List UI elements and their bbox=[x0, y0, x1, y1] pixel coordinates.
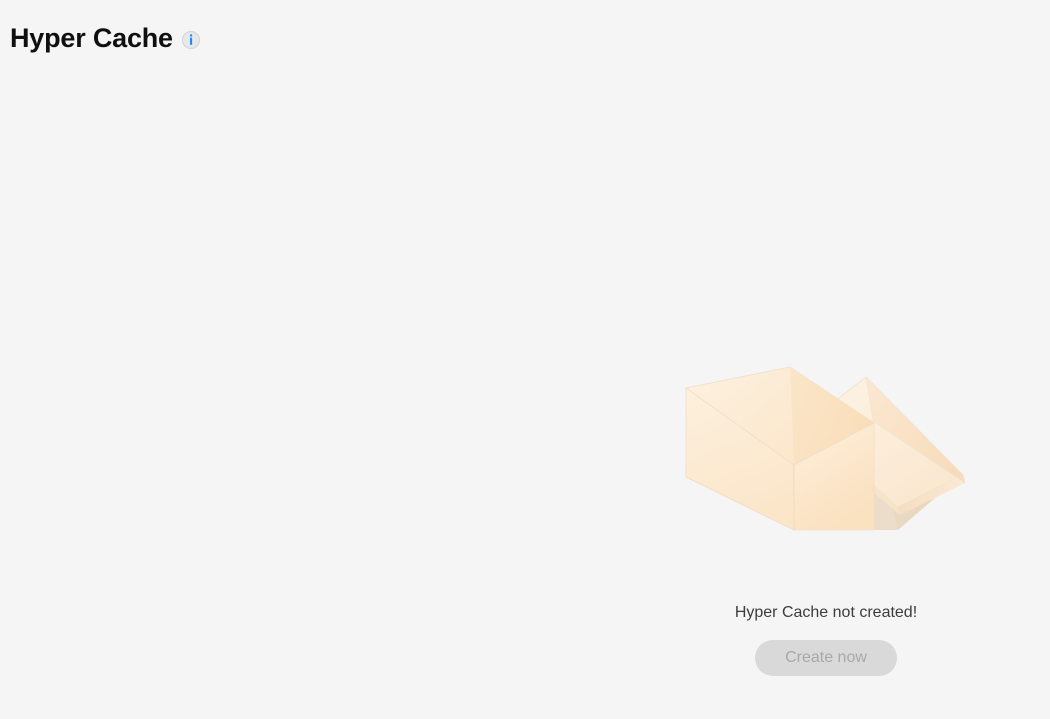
open-empty-box-icon bbox=[676, 325, 976, 535]
page-title: Hyper Cache bbox=[10, 22, 173, 54]
empty-state-message: Hyper Cache not created! bbox=[735, 603, 917, 623]
create-now-button[interactable]: Create now bbox=[755, 640, 897, 676]
empty-state: Hyper Cache not created! Create now bbox=[666, 325, 986, 676]
info-circle-icon[interactable] bbox=[182, 31, 200, 49]
page-header: Hyper Cache bbox=[10, 22, 200, 54]
